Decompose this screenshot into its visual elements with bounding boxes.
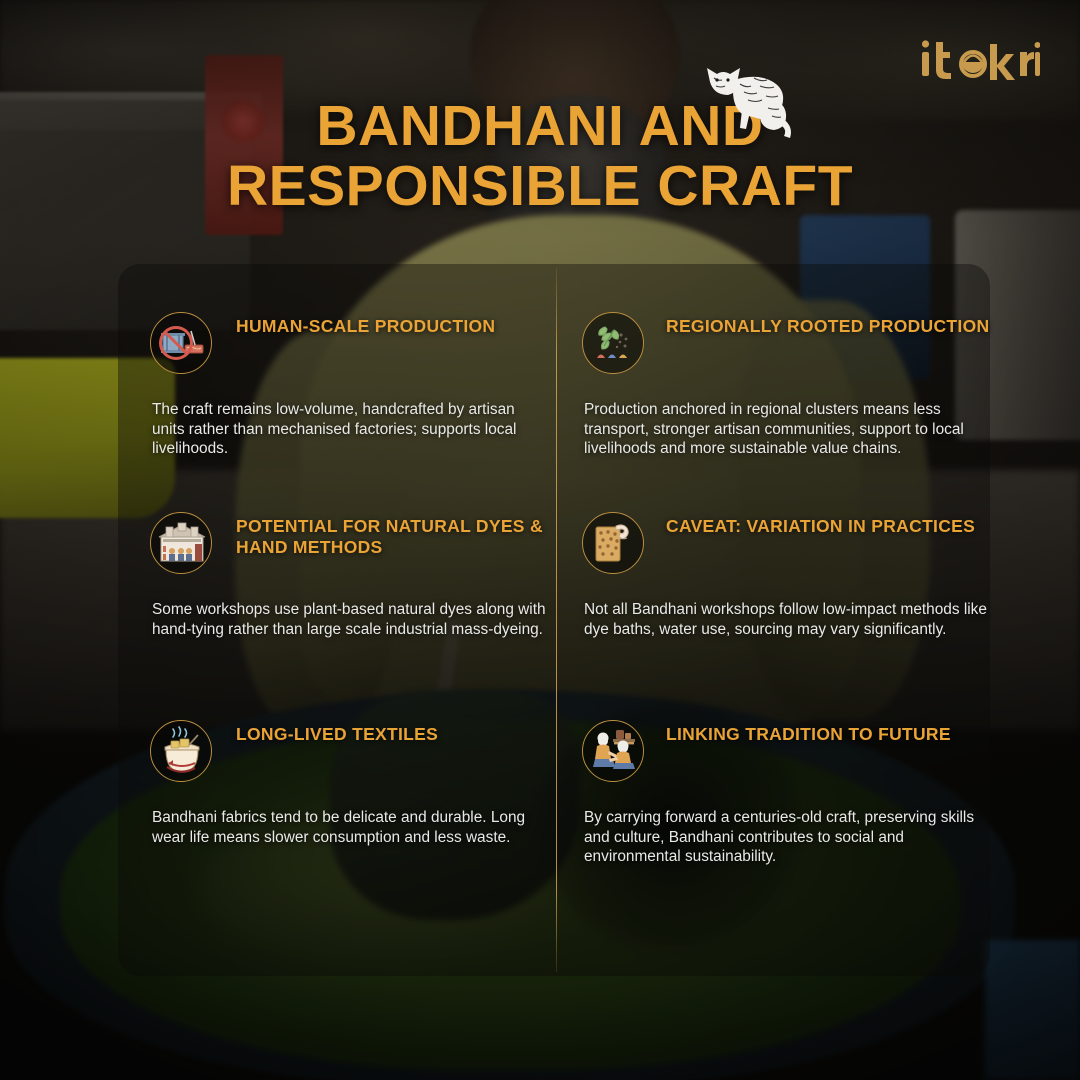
card-body: The craft remains low-volume, handcrafte… — [152, 400, 550, 459]
artisan-workshop-building-icon — [150, 512, 212, 574]
card-title: LONG-LIVED TEXTILES — [236, 720, 550, 745]
page-title-line-2: RESPONSIBLE CRAFT — [60, 156, 1020, 216]
card-body: Bandhani fabrics tend to be delicate and… — [152, 808, 550, 847]
steaming-dye-pot-icon — [150, 720, 212, 782]
card-caveat-variation-in-practices: CAVEAT: VARIATION IN PRACTICES Not all B… — [582, 512, 990, 639]
card-header: POTENTIAL FOR NATURAL DYES & HAND METHOD… — [150, 512, 550, 574]
card-body: Production anchored in regional clusters… — [584, 400, 990, 459]
card-title: POTENTIAL FOR NATURAL DYES & HAND METHOD… — [236, 512, 550, 559]
card-header: LONG-LIVED TEXTILES — [150, 720, 550, 782]
column-divider — [556, 268, 557, 972]
card-body: Not all Bandhani workshops follow low-im… — [584, 600, 990, 639]
card-body: Some workshops use plant-based natural d… — [152, 600, 550, 639]
infographic-poster: BANDHANI AND RESPONSIBLE CRAFT — [0, 0, 1080, 1080]
card-linking-tradition-to-future: LINKING TRADITION TO FUTURE By carrying … — [582, 720, 990, 867]
no-factory-machine-icon — [150, 312, 212, 374]
card-header: CAVEAT: VARIATION IN PRACTICES — [582, 512, 990, 574]
card-title: CAVEAT: VARIATION IN PRACTICES — [666, 512, 990, 537]
card-potential-for-natural-dyes: POTENTIAL FOR NATURAL DYES & HAND METHOD… — [150, 512, 550, 639]
hand-holding-patterned-fabric-icon — [582, 512, 644, 574]
leopard-cat-mark-icon — [690, 52, 800, 144]
brand-logo[interactable] — [920, 38, 1040, 84]
page-title: BANDHANI AND RESPONSIBLE CRAFT — [60, 96, 1020, 217]
card-title: HUMAN-SCALE PRODUCTION — [236, 312, 550, 337]
card-header: LINKING TRADITION TO FUTURE — [582, 720, 990, 782]
card-human-scale-production: HUMAN-SCALE PRODUCTION The craft remains… — [150, 312, 550, 459]
card-regionally-rooted-production: REGIONALLY ROOTED PRODUCTION Production … — [582, 312, 990, 459]
card-header: REGIONALLY ROOTED PRODUCTION — [582, 312, 990, 374]
card-title: REGIONALLY ROOTED PRODUCTION — [666, 312, 990, 337]
poster-header: BANDHANI AND RESPONSIBLE CRAFT — [0, 0, 1080, 262]
card-long-lived-textiles: LONG-LIVED TEXTILES Bandhani fabrics ten… — [150, 720, 550, 847]
card-title: LINKING TRADITION TO FUTURE — [666, 720, 990, 745]
two-seated-artisans-icon — [582, 720, 644, 782]
seedling-soil-mounds-icon — [582, 312, 644, 374]
card-header: HUMAN-SCALE PRODUCTION — [150, 312, 550, 374]
card-body: By carrying forward a centuries-old craf… — [584, 808, 990, 867]
